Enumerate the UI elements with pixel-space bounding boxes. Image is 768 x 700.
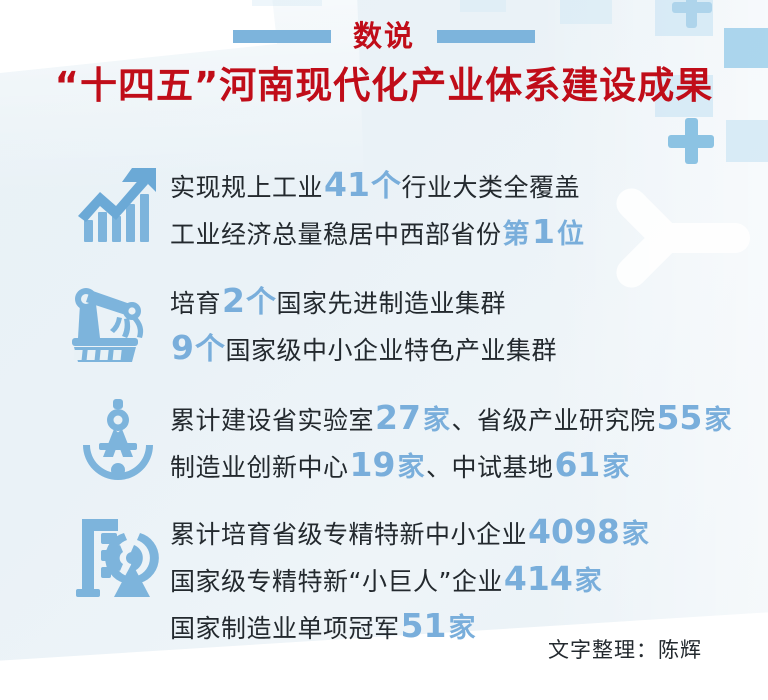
stat-unit: 家 xyxy=(574,566,604,597)
stat-number: 4098 xyxy=(527,512,621,551)
stat-unit: 家 xyxy=(621,519,651,550)
stat-number: 61 xyxy=(553,445,601,484)
stat-number: 414 xyxy=(503,559,574,598)
stat-number: 27 xyxy=(374,398,422,437)
line-text: 、省级产业研究院 xyxy=(451,406,655,435)
line-text: 国家制造业单项冠军 xyxy=(170,614,400,643)
stat-row-icon xyxy=(66,393,170,483)
stat-line: 制造业创新中心19家、中试基地61家 xyxy=(170,442,768,489)
page-title: “十四五”河南现代化产业体系建设成果 xyxy=(0,66,768,107)
stat-unit: 个 xyxy=(371,169,402,204)
robot-arm-icon xyxy=(72,280,164,362)
stat-row: 累计培育省级专精特新中小企业4098家 国家级专精特新“小巨人”企业414家 国… xyxy=(0,507,768,650)
line-text: 国家先进制造业集群 xyxy=(276,289,506,318)
stat-row-icon xyxy=(66,507,170,603)
growth-chart-arrow-icon xyxy=(74,164,162,248)
deco-rectangle xyxy=(560,0,612,24)
stat-unit: 第 xyxy=(502,219,532,250)
line-text: 、中试基地 xyxy=(426,453,554,482)
stat-line: 工业经济总量稳居中西部省份第1位 xyxy=(170,209,768,256)
eyebrow-rule-left xyxy=(233,30,331,43)
stat-unit: 家 xyxy=(396,452,426,483)
stat-row-lines: 培育2个国家先进制造业集群 9个国家级中小企业特色产业集群 xyxy=(170,276,768,372)
eyebrow-label: 数说 xyxy=(351,22,417,51)
stat-line: 9个国家级中小企业特色产业集群 xyxy=(170,325,768,372)
stat-unit: 位 xyxy=(556,219,586,250)
poster-header: 数说 “十四五”河南现代化产业体系建设成果 xyxy=(0,22,768,107)
eyebrow-banner: 数说 xyxy=(0,22,768,51)
stat-row-lines: 实现规上工业41个行业大类全覆盖 工业经济总量稳居中西部省份第1位 xyxy=(170,160,768,256)
stat-row-lines: 累计培育省级专精特新中小企业4098家 国家级专精特新“小巨人”企业414家 国… xyxy=(170,507,768,650)
line-text: 实现规上工业 xyxy=(170,173,323,202)
deco-rectangle xyxy=(726,120,768,162)
stat-row: 实现规上工业41个行业大类全覆盖 工业经济总量稳居中西部省份第1位 xyxy=(0,160,768,256)
stat-row: 培育2个国家先进制造业集群 9个国家级中小企业特色产业集群 xyxy=(0,276,768,372)
credit-text: 文字整理：陈辉 xyxy=(548,634,702,664)
eyebrow-rule-right xyxy=(437,30,535,43)
stat-line: 累计培育省级专精特新中小企业4098家 xyxy=(170,509,768,556)
stat-unit: 家 xyxy=(422,405,452,436)
stat-unit: 家 xyxy=(447,613,477,644)
stat-line: 累计建设省实验室27家、省级产业研究院55家 xyxy=(170,395,768,442)
line-text: 国家级中小企业特色产业集群 xyxy=(225,336,557,365)
line-text: 培育 xyxy=(170,289,221,318)
stat-unit: 家 xyxy=(601,452,631,483)
deco-rectangle xyxy=(252,0,322,6)
line-text: 工业经济总量稳居中西部省份 xyxy=(170,220,502,249)
stat-line: 国家级专精特新“小巨人”企业414家 xyxy=(170,556,768,603)
stat-line: 培育2个国家先进制造业集群 xyxy=(170,278,768,325)
stat-unit: 个 xyxy=(195,332,226,367)
stat-row-icon xyxy=(66,160,170,248)
stat-number: 9 xyxy=(170,328,195,367)
stat-row-icon xyxy=(66,276,170,362)
statistics-list: 实现规上工业41个行业大类全覆盖 工业经济总量稳居中西部省份第1位 xyxy=(0,158,768,656)
line-text: 国家级专精特新“小巨人”企业 xyxy=(170,567,503,596)
line-text: 行业大类全覆盖 xyxy=(401,173,580,202)
line-text: 累计建设省实验室 xyxy=(170,406,374,435)
deco-rectangle xyxy=(460,0,506,12)
stat-unit: 个 xyxy=(246,285,277,320)
compass-divider-icon xyxy=(75,397,161,483)
infographic-poster: 数说 “十四五”河南现代化产业体系建设成果 xyxy=(0,0,768,700)
stat-number: 19 xyxy=(349,445,397,484)
stat-row: 累计建设省实验室27家、省级产业研究院55家 制造业创新中心19家、中试基地61… xyxy=(0,393,768,489)
stat-number: 51 xyxy=(400,606,448,645)
building-signal-tower-icon xyxy=(72,511,164,603)
line-text: 累计培育省级专精特新中小企业 xyxy=(170,520,527,549)
stat-unit: 家 xyxy=(703,405,733,436)
stat-number: 41 xyxy=(323,165,371,204)
line-text: 制造业创新中心 xyxy=(170,453,349,482)
stat-row-lines: 累计建设省实验室27家、省级产业研究院55家 制造业创新中心19家、中试基地61… xyxy=(170,393,768,489)
stat-number: 1 xyxy=(531,212,556,251)
stat-line: 实现规上工业41个行业大类全覆盖 xyxy=(170,162,768,209)
stat-number: 55 xyxy=(655,398,703,437)
stat-number: 2 xyxy=(221,281,246,320)
